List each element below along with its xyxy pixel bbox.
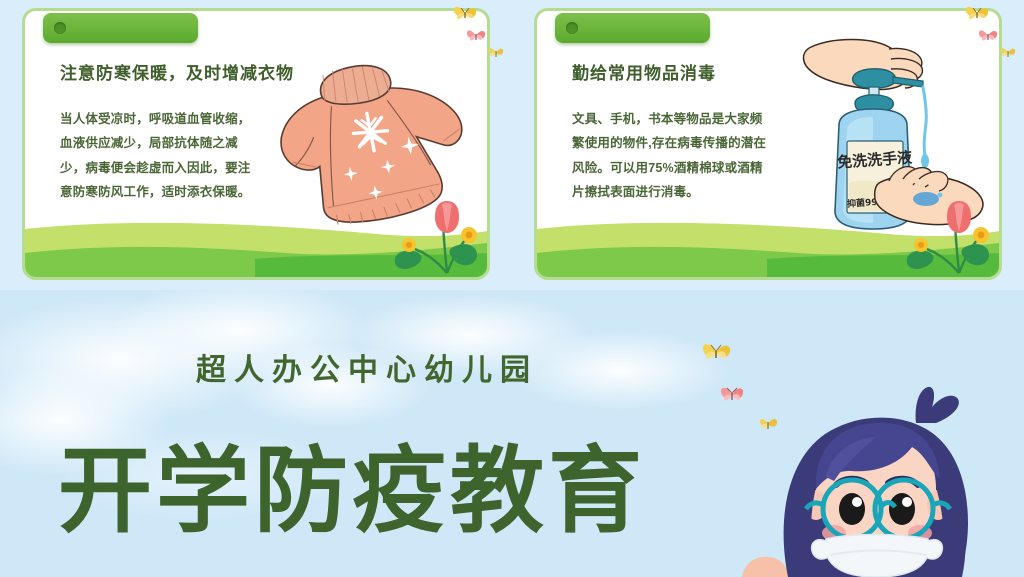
- card-tab-right[interactable]: [555, 13, 710, 43]
- hero-subtitle: 超人办公中心幼儿园: [0, 345, 726, 389]
- butterfly-yellow-small-right-icon: [999, 44, 1017, 61]
- slide-root: 注意防寒保暖，及时增减衣物 当人体受凉时，呼吸道血管收缩，血液供应减少，局部抗体…: [0, 0, 1024, 577]
- content-card-disinfect-items[interactable]: 免洗洗手液 抑菌99.99% 勤给常用物品消毒: [534, 8, 1002, 280]
- flower-cluster-right: [903, 193, 995, 277]
- butterfly-yellow-top-icon: [964, 2, 990, 26]
- hero-title-block: 超人办公中心幼儿园 开学防疫教育: [0, 290, 1024, 577]
- card-title-left: 注意防寒保暖，及时增减衣物: [60, 59, 294, 84]
- butterfly-yellow-large-icon: [700, 338, 732, 368]
- card-tab-left[interactable]: [43, 13, 198, 43]
- butterfly-yellow-small-right-icon: [487, 44, 505, 61]
- butterfly-pink-corner-icon: [977, 26, 999, 46]
- butterfly-pink-corner-icon: [465, 26, 487, 46]
- card-wrap-right: 免洗洗手液 抑菌99.99% 勤给常用物品消毒: [512, 0, 1024, 290]
- flower-cluster-left: [391, 193, 483, 277]
- tab-dot-icon: [566, 22, 578, 34]
- butterfly-pink-icon: [718, 382, 746, 408]
- content-card-cold-protection[interactable]: 注意防寒保暖，及时增减衣物 当人体受凉时，呼吸道血管收缩，血液供应减少，局部抗体…: [22, 8, 490, 280]
- card-body-left: 当人体受凉时，呼吸道血管收缩，血液供应减少，局部抗体随之减少，病毒便会趁虚而入因…: [60, 107, 256, 205]
- masked-girl-illustration: [730, 327, 1024, 577]
- card-wrap-left: 注意防寒保暖，及时增减衣物 当人体受凉时，呼吸道血管收缩，血液供应减少，局部抗体…: [0, 0, 512, 290]
- tab-dot-icon: [54, 22, 66, 34]
- cards-area: 注意防寒保暖，及时增减衣物 当人体受凉时，呼吸道血管收缩，血液供应减少，局部抗体…: [0, 0, 1024, 290]
- butterfly-yellow-top-icon: [452, 2, 478, 26]
- card-body-right: 文具、手机，书本等物品是大家频繁使用的物件,存在病毒传播的潜在风险。可以用75%…: [572, 107, 768, 205]
- card-title-right: 勤给常用物品消毒: [572, 59, 716, 84]
- butterfly-yellow-small-icon: [757, 414, 779, 434]
- hero-main-title: 开学防疫教育: [0, 442, 700, 541]
